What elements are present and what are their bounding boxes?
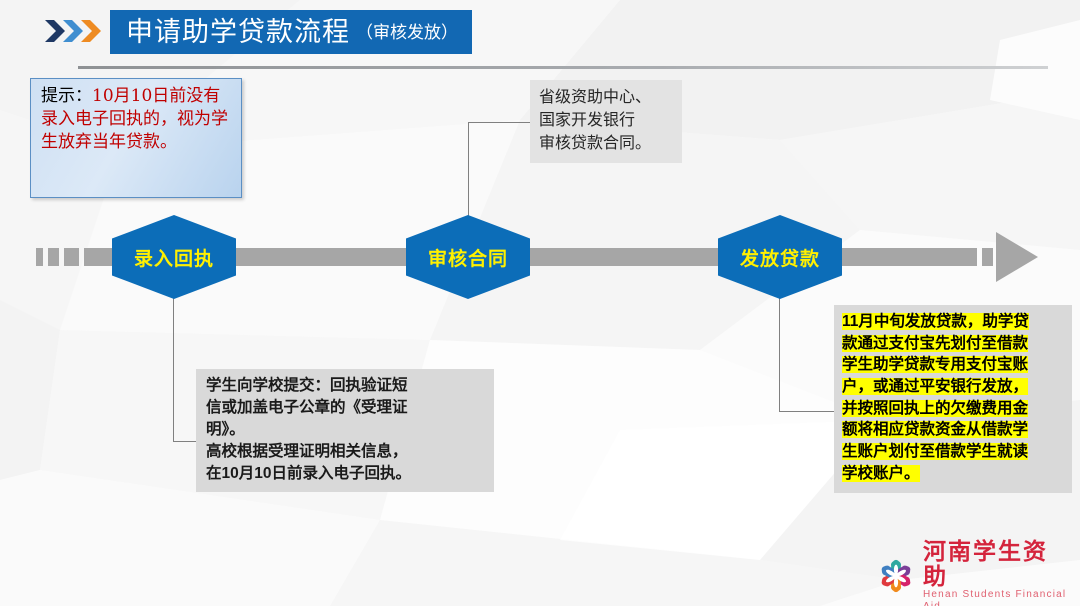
slide-canvas: 申请助学贷款流程 （审核发放） 提示：10月10日前没有录入电子回执的，视为学生…: [0, 0, 1080, 606]
callout-line: 额将相应贷款资金从借款学: [842, 421, 1028, 438]
callout-line: 审核贷款合同。: [539, 132, 674, 155]
organization-logo: 河南学生资助 Henan Students Financial Aid: [876, 552, 1072, 600]
chevron-group-icon: [45, 16, 103, 46]
callout-bottom-left: 学生向学校提交：回执验证短 信或加盖电子公章的《受理证 明》。 高校根据受理证明…: [196, 369, 494, 492]
callout-line: 学生向学校提交：回执验证短: [206, 375, 486, 397]
chevron-right-orange-icon: [81, 20, 101, 42]
henan-student-aid-pinwheel-icon: [876, 556, 916, 596]
slide-header: 申请助学贷款流程 （审核发放）: [0, 0, 1080, 80]
timeline-dash-right-1: [955, 248, 977, 266]
timeline-dash-left-2: [48, 248, 59, 266]
callout-line: 高校根据受理证明相关信息，: [206, 441, 486, 463]
callout-line: 生账户划付至借款学生就读: [842, 443, 1028, 460]
callout-line: 省级资助中心、: [539, 86, 674, 109]
connector-node3-vertical: [779, 290, 780, 412]
header-divider-rule: [78, 66, 1048, 69]
connector-node2-vertical: [468, 122, 469, 218]
callout-line: 学生助学贷款专用支付宝账: [842, 356, 1028, 373]
callout-line: 款通过支付宝先划付至借款: [842, 335, 1028, 352]
page-subtitle: （审核发放）: [356, 24, 458, 41]
callout-right-highlighted: 11月中旬发放贷款，助学贷 款通过支付宝先划付至借款 学生助学贷款专用支付宝账 …: [834, 305, 1072, 493]
logo-name-cn: 河南学生资助: [923, 539, 1072, 587]
callout-line: 11月中旬发放贷款，助学贷: [842, 313, 1029, 330]
chevron-right-blue-icon: [63, 20, 83, 42]
tip-label: 提示：: [41, 86, 92, 106]
page-title: 申请助学贷款流程: [126, 19, 350, 46]
connector-node1-vertical: [173, 290, 174, 442]
logo-name-en: Henan Students Financial Aid: [923, 589, 1072, 606]
page-title-bar: 申请助学贷款流程 （审核发放）: [110, 10, 472, 54]
callout-line: 信或加盖电子公章的《受理证: [206, 397, 486, 419]
timeline-node-label: 发放贷款: [740, 244, 820, 271]
timeline-node-label: 审核合同: [428, 244, 508, 271]
callout-line: 明》。: [206, 419, 486, 441]
callout-line: 学校账户。: [842, 465, 920, 482]
tip-callout-box: 提示：10月10日前没有录入电子回执的，视为学生放弃当年贷款。: [30, 78, 242, 198]
timeline-dash-left-1: [36, 248, 43, 266]
callout-line: 在10月10日前录入电子回执。: [206, 463, 486, 485]
callout-top-middle: 省级资助中心、 国家开发银行 审核贷款合同。: [530, 80, 682, 163]
callout-line: 户，或通过平安银行发放，: [842, 378, 1028, 395]
callout-line: 并按照回执上的欠缴费用金: [842, 400, 1028, 417]
chevron-right-navy-icon: [45, 20, 65, 42]
timeline-dash-right-2: [982, 248, 993, 266]
callout-line: 国家开发银行: [539, 109, 674, 132]
timeline-dash-left-3: [64, 248, 79, 266]
connector-node2-horizontal: [468, 122, 530, 123]
logo-text-block: 河南学生资助 Henan Students Financial Aid: [923, 539, 1072, 606]
connector-node3-horizontal: [779, 411, 836, 412]
timeline-node-label: 录入回执: [134, 244, 214, 271]
timeline-arrow-head-icon: [996, 232, 1038, 282]
